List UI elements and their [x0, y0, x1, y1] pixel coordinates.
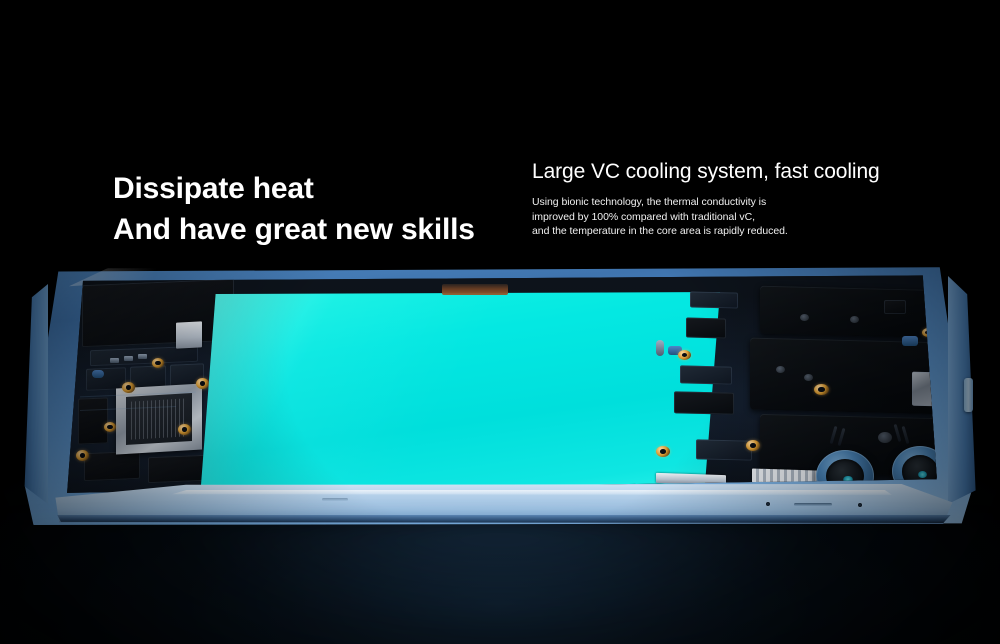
smd-component: [138, 354, 147, 359]
screw-pad: [178, 424, 191, 435]
feature-block: Large VC cooling system, fast cooling Us…: [532, 159, 880, 239]
shield-vent: [878, 432, 892, 443]
screw-pad: [76, 450, 89, 461]
headline-line-2: And have great new skills: [113, 209, 475, 250]
screw-pad: [746, 440, 760, 451]
speaker-grille: [322, 498, 348, 501]
smd-component: [902, 336, 918, 346]
top-connector: [442, 284, 508, 295]
screw-pad: [814, 384, 829, 395]
feature-body-line-2: improved by 100% compared with tradition…: [532, 210, 880, 225]
screw-pad: [678, 350, 691, 360]
pcb-chip: [148, 455, 206, 483]
soc-die: [126, 393, 192, 445]
vapor-chamber-plate: [200, 292, 720, 498]
pcb-chip: [690, 291, 738, 308]
smd-component: [92, 370, 104, 378]
screw-pad: [656, 446, 670, 457]
pcb-chip: [884, 300, 906, 314]
promo-stage: Dissipate heat And have great new skills…: [0, 0, 1000, 644]
pcb-chip: [674, 391, 734, 414]
feature-body-line-1: Using bionic technology, the thermal con…: [532, 195, 880, 210]
battery-shield: [82, 279, 234, 347]
smd-component: [110, 358, 119, 363]
pcb-chip: [696, 439, 752, 460]
smd-component: [124, 356, 133, 361]
shield-vent: [800, 314, 809, 321]
shield-vent: [776, 366, 785, 373]
chassis-left-rail: [22, 284, 48, 504]
pcb-chip: [84, 451, 140, 481]
pcb-chip: [680, 365, 732, 384]
plate-sheen: [200, 292, 720, 498]
feature-title: Large VC cooling system, fast cooling: [532, 159, 880, 185]
feature-body-line-3: and the temperature in the core area is …: [532, 224, 880, 239]
shield-vent: [850, 316, 859, 323]
headline-line-1: Dissipate heat: [113, 168, 475, 209]
speaker-grille: [794, 503, 832, 506]
microphone-hole: [766, 502, 770, 506]
pcb-chip: [686, 318, 726, 339]
volume-button[interactable]: [964, 378, 973, 412]
smd-component: [656, 340, 664, 356]
emi-shield: [760, 286, 944, 339]
screw-pad: [152, 358, 164, 368]
screw-pad: [196, 378, 209, 389]
headline: Dissipate heat And have great new skills: [113, 168, 475, 250]
bezel-lip-shadow: [50, 515, 956, 523]
chassis-right-rail: [948, 276, 978, 504]
pcb-chip: [78, 397, 108, 444]
screw-pad: [122, 382, 135, 393]
feature-body: Using bionic technology, the thermal con…: [532, 195, 880, 239]
shield-vent: [804, 374, 813, 381]
tablet-device: [22, 262, 978, 540]
ribbon-connector: [176, 321, 202, 348]
screw-pad: [104, 422, 116, 432]
device-cavity: [60, 274, 944, 502]
microphone-hole: [858, 503, 862, 507]
